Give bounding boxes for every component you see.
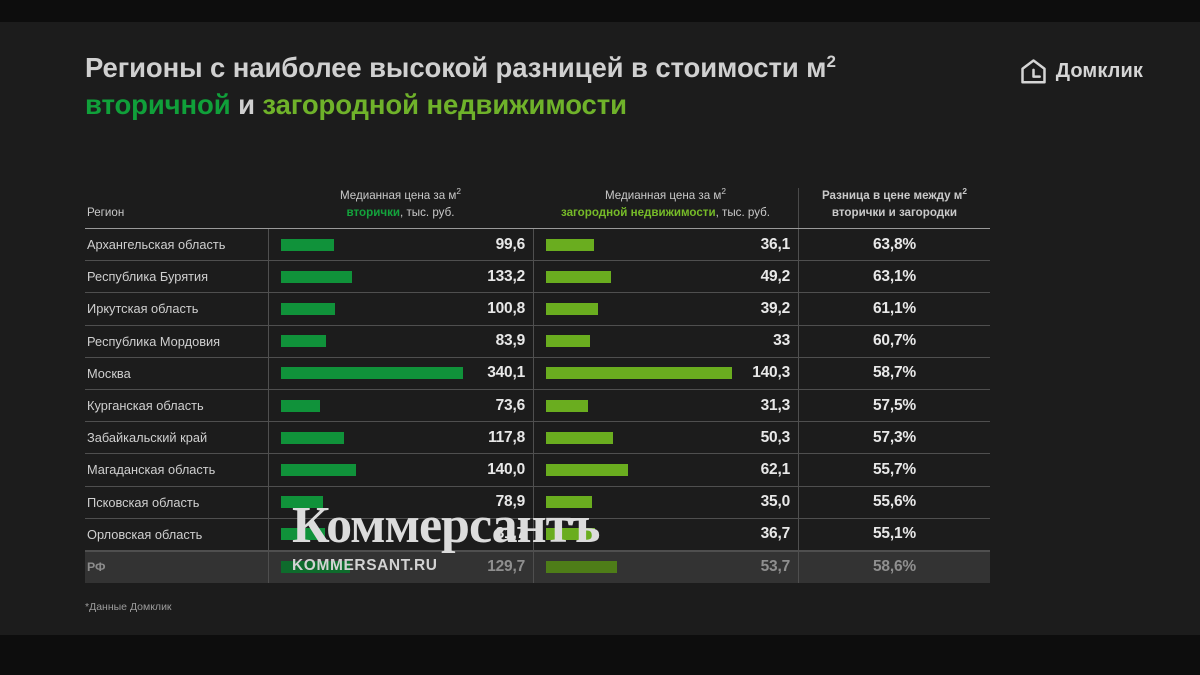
col-sec-text: Медианная цена за м <box>340 189 456 202</box>
table-body: Архангельская область99,636,163,8%Респуб… <box>85 229 990 583</box>
cell-secondary-price: 81,7 <box>268 519 533 550</box>
page-title: Регионы с наиболее высокой разницей в ст… <box>85 50 985 123</box>
cell-country-price: 50,3 <box>533 422 798 453</box>
cell-country-price: 140,3 <box>533 358 798 389</box>
header: Регионы с наиболее высокой разницей в ст… <box>85 50 1115 123</box>
cell-region: Республика Мордовия <box>85 334 268 349</box>
cell-region: Архангельская область <box>85 237 268 252</box>
bar-secondary <box>281 528 325 540</box>
column-header-difference: Разница в цене между м2 вторички и загор… <box>798 188 990 228</box>
cell-difference: 55,6% <box>798 487 990 518</box>
table-row: Псковская область78,935,055,6% <box>85 487 990 519</box>
value-country: 49,2 <box>761 268 790 286</box>
bar-country <box>546 496 592 508</box>
cell-difference: 58,6% <box>798 552 990 583</box>
value-country: 50,3 <box>761 429 790 447</box>
domclick-logo: Домклик <box>1020 58 1143 85</box>
col-diff-sup: 2 <box>962 186 967 196</box>
table-row: Республика Мордовия83,93360,7% <box>85 326 990 358</box>
table-row: Магаданская область140,062,155,7% <box>85 454 990 486</box>
bar-country <box>546 464 628 476</box>
bar-secondary <box>281 400 320 412</box>
value-secondary: 100,8 <box>487 300 525 318</box>
value-secondary: 73,6 <box>496 397 525 415</box>
cell-country-price: 35,0 <box>533 487 798 518</box>
title-line1: Регионы с наиболее высокой разницей в ст… <box>85 52 826 83</box>
col-cnt-sup: 2 <box>721 186 726 196</box>
cell-region: Республика Бурятия <box>85 269 268 284</box>
col-cnt-highlight: загородной недвижимости <box>561 206 716 219</box>
col-diff-line2: вторички и загородки <box>832 206 957 219</box>
bar-country <box>546 271 611 283</box>
table-row: Курганская область73,631,357,5% <box>85 390 990 422</box>
footnote: *Данные Домклик <box>85 601 172 613</box>
cell-difference: 55,1% <box>798 519 990 550</box>
cell-difference: 63,8% <box>798 229 990 260</box>
value-secondary: 140,0 <box>487 461 525 479</box>
value-country: 31,3 <box>761 397 790 415</box>
bar-country <box>546 303 598 315</box>
value-secondary: 78,9 <box>496 493 525 511</box>
bar-country <box>546 367 732 379</box>
cell-difference: 63,1% <box>798 261 990 292</box>
cell-country-price: 53,7 <box>533 552 798 583</box>
value-country: 53,7 <box>761 558 790 576</box>
bar-country <box>546 239 594 251</box>
cell-country-price: 62,1 <box>533 454 798 485</box>
value-country: 36,7 <box>761 525 790 543</box>
value-secondary: 340,1 <box>487 364 525 382</box>
house-icon <box>1020 58 1047 85</box>
cell-secondary-price: 133,2 <box>268 261 533 292</box>
cell-secondary-price: 78,9 <box>268 487 533 518</box>
bar-secondary <box>281 271 352 283</box>
bar-secondary <box>281 464 356 476</box>
bar-secondary <box>281 432 344 444</box>
cell-region: Псковская область <box>85 495 268 510</box>
cell-country-price: 36,7 <box>533 519 798 550</box>
value-country: 62,1 <box>761 461 790 479</box>
cell-difference: 60,7% <box>798 326 990 357</box>
column-header-secondary: Медианная цена за м2 вторички, тыс. руб. <box>268 188 533 228</box>
column-header-country: Медианная цена за м2 загородной недвижим… <box>533 188 798 228</box>
cell-difference: 55,7% <box>798 454 990 485</box>
value-secondary: 99,6 <box>496 236 525 254</box>
col-sec-tail: , тыс. руб. <box>400 206 454 219</box>
value-secondary: 129,7 <box>487 558 525 576</box>
title-country-word: загородной недвижимости <box>262 89 627 120</box>
cell-country-price: 33 <box>533 326 798 357</box>
bar-secondary <box>281 303 335 315</box>
bar-secondary <box>281 496 323 508</box>
value-secondary: 133,2 <box>487 268 525 286</box>
cell-secondary-price: 340,1 <box>268 358 533 389</box>
bar-country <box>546 335 590 347</box>
bar-country <box>546 528 595 540</box>
value-secondary: 81,7 <box>496 525 525 543</box>
title-secondary-word: вторичной <box>85 89 231 120</box>
data-table: Регион Медианная цена за м2 вторички, ты… <box>85 172 990 583</box>
cell-secondary-price: 100,8 <box>268 293 533 324</box>
title-conjunction: и <box>231 89 263 120</box>
cell-difference: 57,3% <box>798 422 990 453</box>
title-superscript: 2 <box>826 52 835 71</box>
col-diff-text: Разница в цене между м <box>822 189 962 202</box>
infographic-root: Регионы с наиболее высокой разницей в ст… <box>0 0 1200 675</box>
cell-secondary-price: 83,9 <box>268 326 533 357</box>
value-country: 33 <box>773 332 790 350</box>
cell-secondary-price: 73,6 <box>268 390 533 421</box>
value-country: 35,0 <box>761 493 790 511</box>
table-row: Архангельская область99,636,163,8% <box>85 229 990 261</box>
cell-region: РФ <box>85 560 268 574</box>
table-row: Республика Бурятия133,249,263,1% <box>85 261 990 293</box>
bar-secondary <box>281 367 463 379</box>
bar-country <box>546 561 617 573</box>
table-header-row: Регион Медианная цена за м2 вторички, ты… <box>85 172 990 229</box>
table-row: Орловская область81,736,755,1% <box>85 519 990 551</box>
column-header-region: Регион <box>85 205 268 228</box>
cell-region: Забайкальский край <box>85 430 268 445</box>
col-cnt-tail: , тыс. руб. <box>716 206 770 219</box>
cell-region: Курганская область <box>85 398 268 413</box>
cell-region: Магаданская область <box>85 462 268 477</box>
cell-country-price: 36,1 <box>533 229 798 260</box>
cell-secondary-price: 129,7 <box>268 552 533 583</box>
table-row-total: РФ129,753,758,6% <box>85 551 990 583</box>
cell-country-price: 31,3 <box>533 390 798 421</box>
col-sec-sup: 2 <box>456 186 461 196</box>
value-country: 39,2 <box>761 300 790 318</box>
logo-label: Домклик <box>1056 60 1143 83</box>
cell-region: Москва <box>85 366 268 381</box>
cell-country-price: 39,2 <box>533 293 798 324</box>
cell-country-price: 49,2 <box>533 261 798 292</box>
cell-region: Орловская область <box>85 527 268 542</box>
cell-region: Иркутская область <box>85 301 268 316</box>
col-sec-highlight: вторички <box>347 206 400 219</box>
letterbox-bottom <box>0 635 1200 675</box>
cell-difference: 58,7% <box>798 358 990 389</box>
value-country: 36,1 <box>761 236 790 254</box>
cell-difference: 61,1% <box>798 293 990 324</box>
cell-secondary-price: 117,8 <box>268 422 533 453</box>
bar-secondary <box>281 335 326 347</box>
bar-secondary <box>281 239 334 251</box>
bar-country <box>546 400 588 412</box>
table-row: Москва340,1140,358,7% <box>85 358 990 390</box>
bar-secondary <box>281 561 350 573</box>
letterbox-top <box>0 0 1200 22</box>
bar-country <box>546 432 613 444</box>
value-country: 140,3 <box>752 364 790 382</box>
cell-secondary-price: 140,0 <box>268 454 533 485</box>
value-secondary: 117,8 <box>488 429 525 447</box>
col-cnt-text: Медианная цена за м <box>605 189 721 202</box>
cell-secondary-price: 99,6 <box>268 229 533 260</box>
cell-difference: 57,5% <box>798 390 990 421</box>
table-row: Иркутская область100,839,261,1% <box>85 293 990 325</box>
table-row: Забайкальский край117,850,357,3% <box>85 422 990 454</box>
value-secondary: 83,9 <box>496 332 525 350</box>
